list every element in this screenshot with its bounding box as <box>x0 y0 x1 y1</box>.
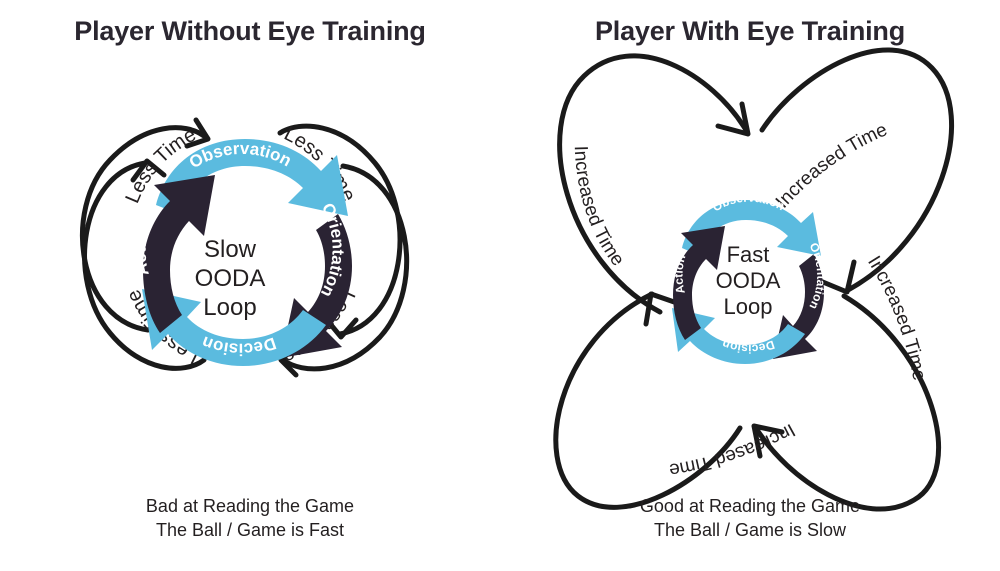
caption-left: Bad at Reading the Game The Ball / Game … <box>0 494 500 542</box>
fast-ooda-loop-graphic: Increased Time Increased Time Increased … <box>500 0 1000 571</box>
center-line-1: Fast <box>727 242 770 267</box>
outer-label-bottom-left: Increased Time <box>668 419 799 481</box>
center-label-fast-ooda-loop: Fast OODA Loop <box>716 242 781 319</box>
center-line-1: Slow <box>204 236 257 263</box>
caption-right-line-1: Good at Reading the Game <box>500 494 1000 518</box>
center-line-3: Loop <box>724 294 773 319</box>
slow-ooda-loop-graphic: Less Time Less Time Less Time Less Time <box>0 0 500 571</box>
caption-left-line-1: Bad at Reading the Game <box>0 494 500 518</box>
center-label-slow-ooda-loop: Slow OODA Loop <box>195 236 266 321</box>
center-line-2: OODA <box>195 265 266 292</box>
outer-label-top-right: Increased Time <box>772 119 891 212</box>
caption-right-line-2: The Ball / Game is Slow <box>500 518 1000 542</box>
ooda-comparison-diagram: Player Without Eye Training <box>0 0 1000 571</box>
outer-loop-top-right-arc <box>762 50 952 290</box>
center-line-3: Loop <box>203 294 256 321</box>
outer-label-top-left: Increased Time <box>570 145 628 270</box>
caption-right: Good at Reading the Game The Ball / Game… <box>500 494 1000 542</box>
center-line-2: OODA <box>716 268 781 293</box>
panel-without-eye-training: Player Without Eye Training <box>0 0 500 571</box>
caption-left-line-2: The Ball / Game is Fast <box>0 518 500 542</box>
outer-loop-bottom-left-arc <box>556 294 740 507</box>
panel-with-eye-training: Player With Eye Training <box>500 0 1000 571</box>
